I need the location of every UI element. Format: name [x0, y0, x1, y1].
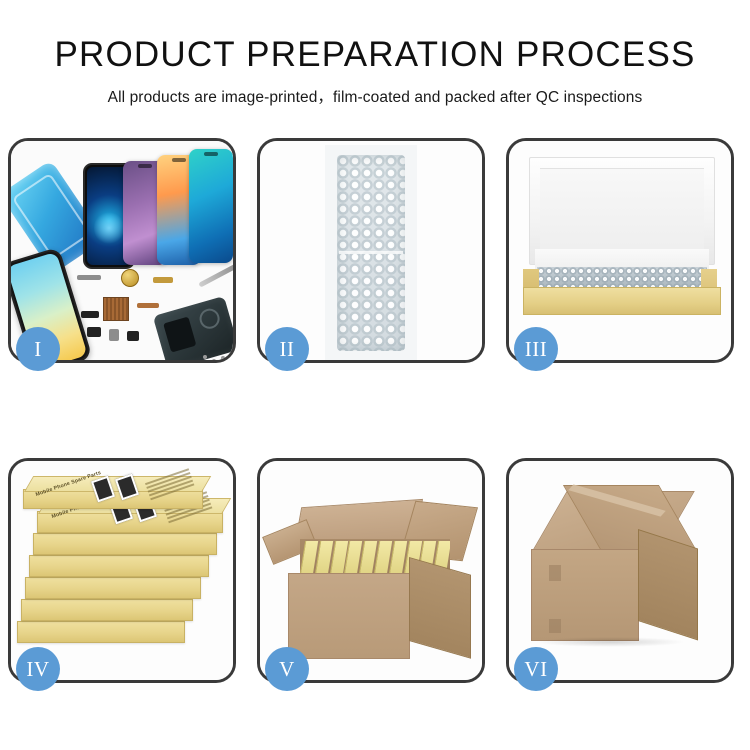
- sealed-carton-front-face: [531, 549, 639, 641]
- tweezers-tool-icon: [198, 263, 233, 287]
- retail-box-bottom-2: [29, 555, 209, 577]
- product-preparation-page: PRODUCT PREPARATION PROCESS All products…: [0, 0, 750, 750]
- sealed-carton-shadow: [535, 637, 685, 647]
- screws-group-icon: [203, 355, 229, 360]
- process-step-grid: I II III: [8, 138, 742, 683]
- retail-box-bottom-5: [17, 621, 185, 643]
- retail-box-bottom-1: [33, 533, 217, 555]
- page-subtitle: All products are image-printed，film-coat…: [0, 85, 750, 107]
- step-badge-6: VI: [514, 647, 558, 691]
- step-badge-1: I: [16, 327, 60, 371]
- camera-module-part-icon: [87, 327, 101, 337]
- sealed-carton-seam-top: [549, 565, 561, 581]
- sim-tray-part-icon: [127, 331, 139, 341]
- page-title: PRODUCT PREPARATION PROCESS: [0, 34, 750, 76]
- page-header: PRODUCT PREPARATION PROCESS All products…: [0, 34, 750, 107]
- process-step-panel-6: VI: [506, 458, 734, 683]
- step-badge-4: IV: [16, 647, 60, 691]
- process-step-panel-5: V: [257, 458, 485, 683]
- retail-box-stack-icon: Mobile Phone Spare Parts Mobile Phone Sp…: [15, 475, 229, 671]
- process-step-panel-3: III: [506, 138, 734, 363]
- retail-box-spec-lines-1: [145, 468, 197, 508]
- sealed-carton-seam-bottom: [549, 619, 561, 633]
- phone-teal-icon: [189, 149, 233, 263]
- gold-connector-part-icon: [153, 277, 173, 283]
- carton-front-face: [288, 573, 410, 659]
- speaker-part-icon: [121, 269, 139, 287]
- mailer-base-front-icon: [523, 287, 721, 315]
- ribbon-cable-part-icon: [137, 303, 159, 308]
- process-step-panel-2: II: [257, 138, 485, 363]
- retail-box-bottom-3: [25, 577, 201, 599]
- step-badge-3: III: [514, 327, 558, 371]
- retail-box-bottom-4: [21, 599, 193, 621]
- small-chip-part-icon: [81, 311, 99, 318]
- retail-box-labeled-1: Mobile Phone Spare Parts: [23, 489, 203, 509]
- retail-box-labeled-2: Mobile Phone Spare Parts: [37, 511, 223, 533]
- copper-grid-part-icon: [103, 297, 129, 321]
- step-badge-5: V: [265, 647, 309, 691]
- process-step-panel-4: Mobile Phone Spare Parts Mobile Phone Sp…: [8, 458, 236, 683]
- process-step-panel-1: I: [8, 138, 236, 363]
- mailer-bubble-contents: [537, 267, 707, 289]
- bubble-wrap-package-icon: [325, 145, 417, 360]
- spare-parts-group: [77, 267, 233, 360]
- carton-right-face: [409, 557, 471, 659]
- button-part-icon: [109, 329, 119, 341]
- phone-mainboard-icon: [153, 296, 233, 360]
- bubble-wrap-seam: [339, 251, 403, 254]
- flex-cable-part-icon: [77, 275, 101, 280]
- step-badge-2: II: [265, 327, 309, 371]
- sealed-carton-right-face: [638, 529, 698, 640]
